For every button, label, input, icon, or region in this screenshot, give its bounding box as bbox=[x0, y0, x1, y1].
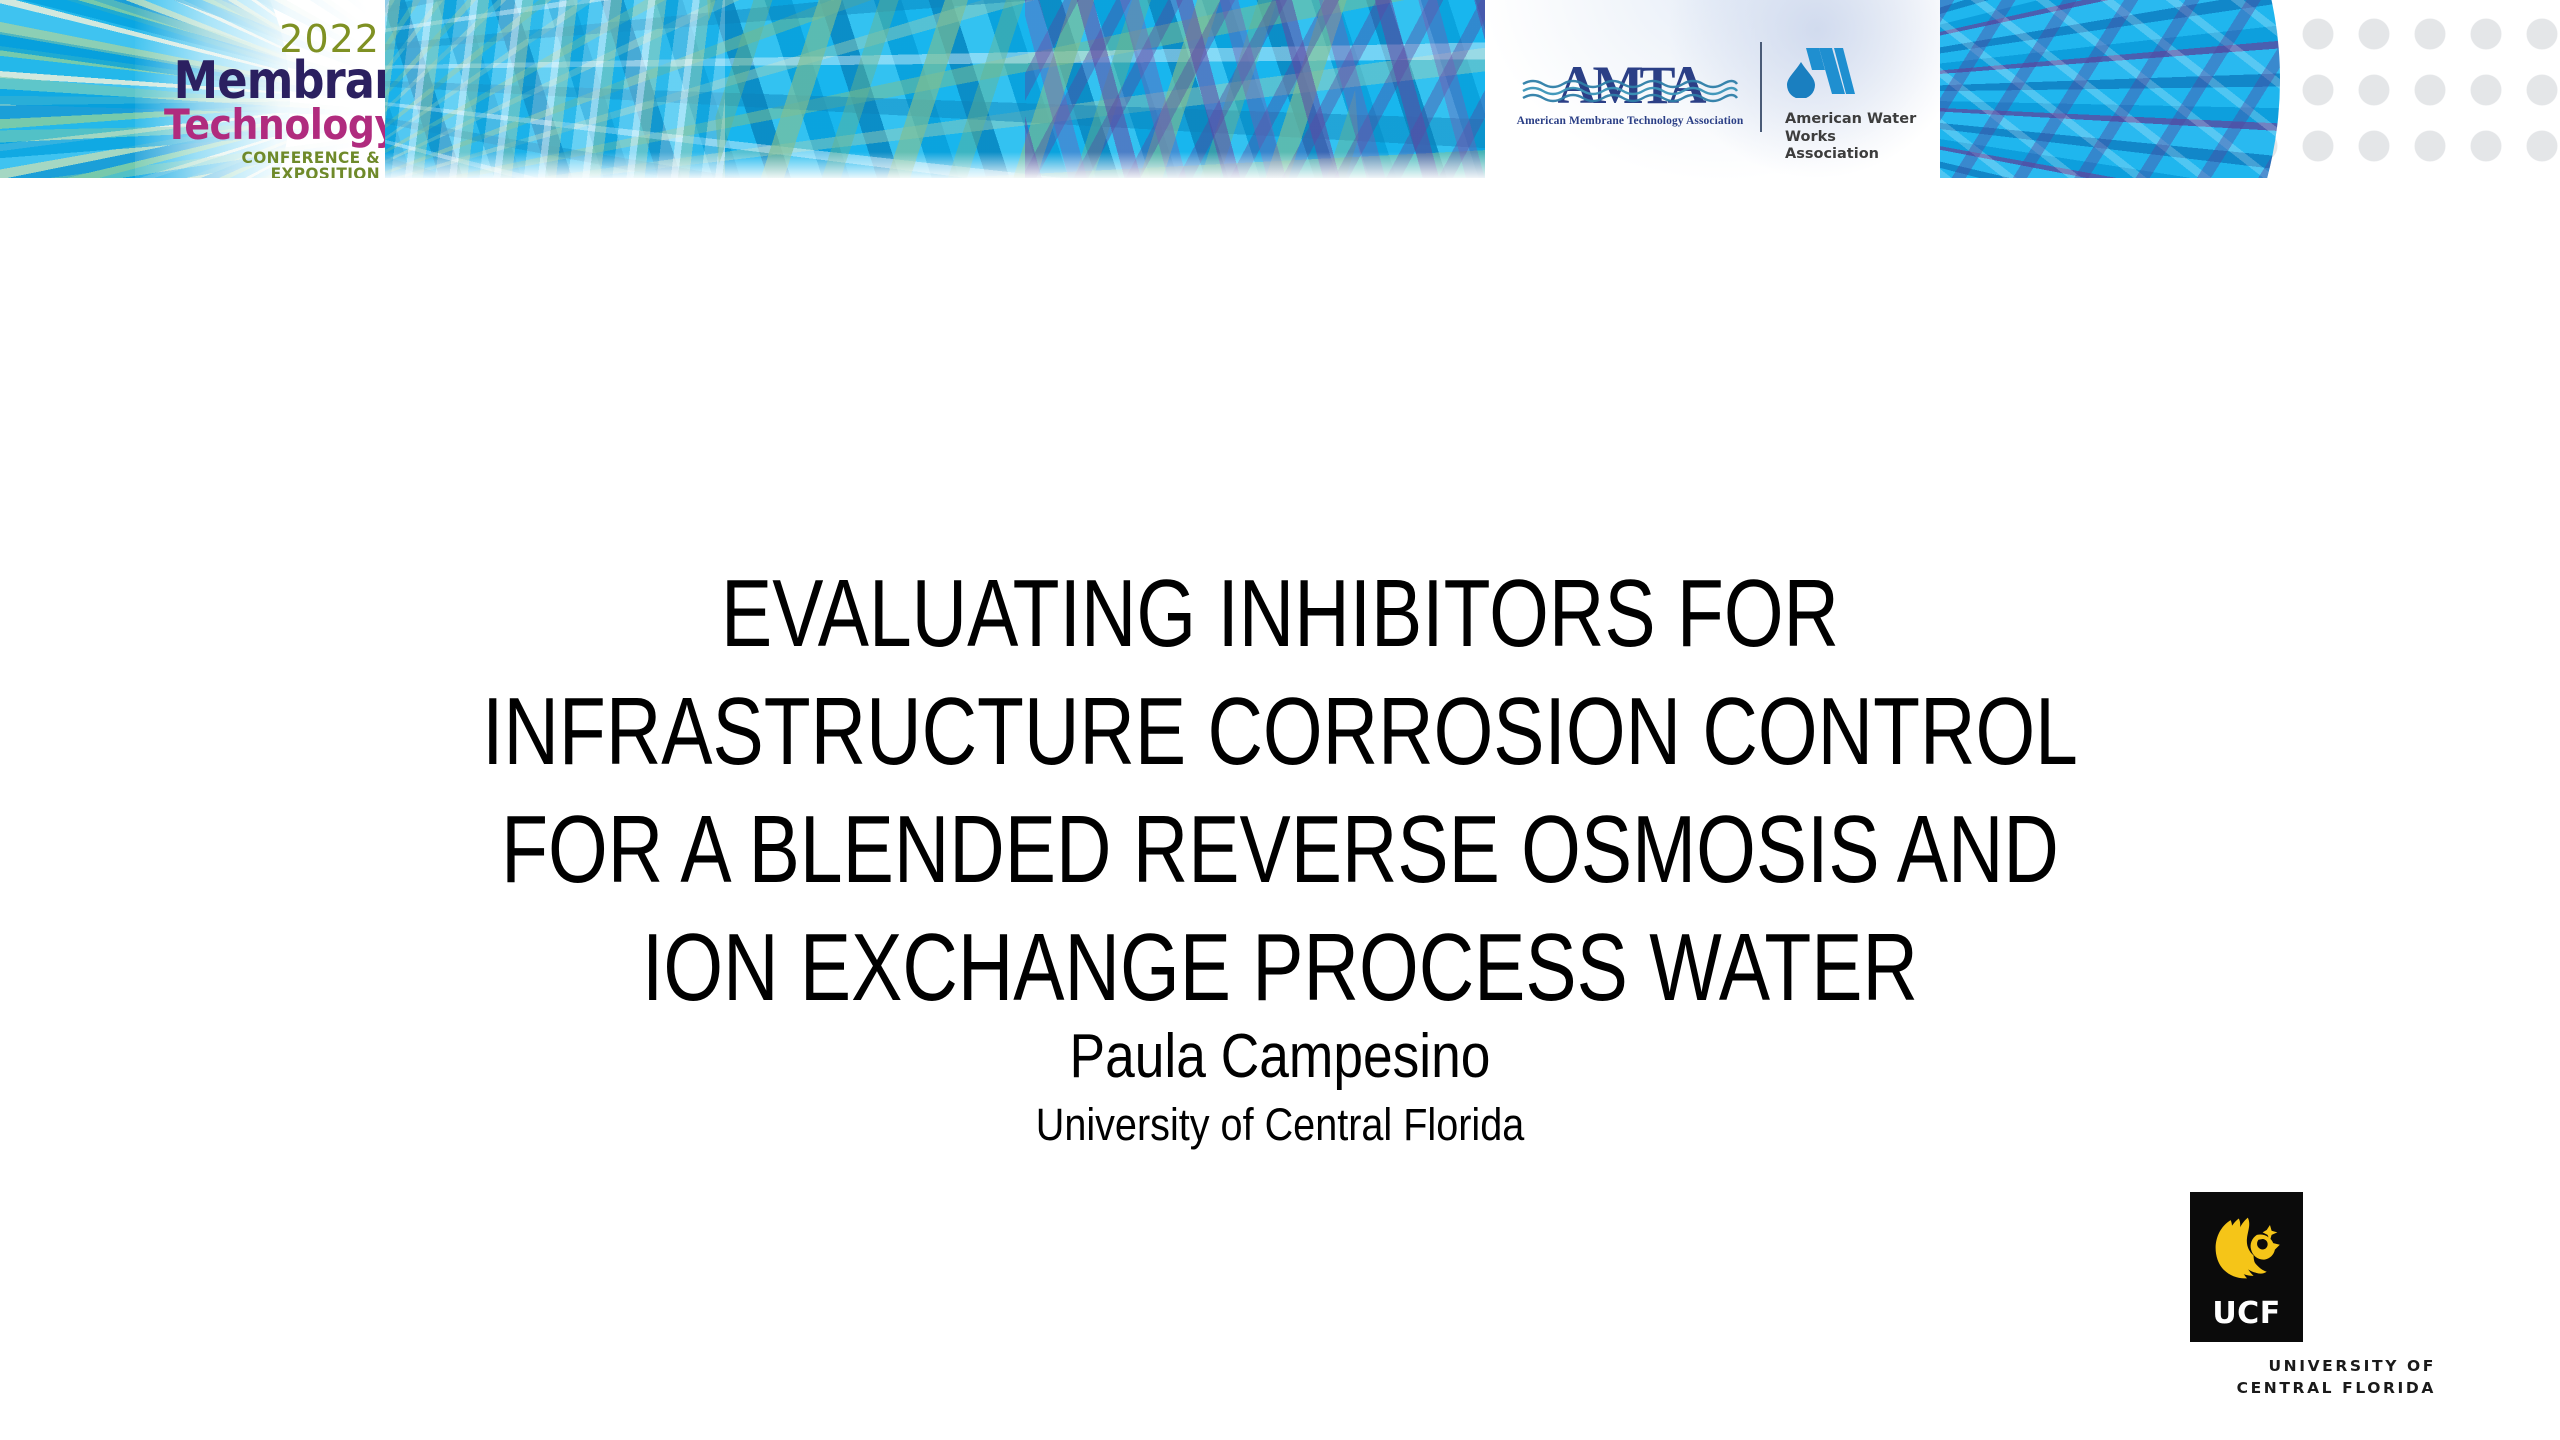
banner-association-logos: AMTA American Membrane Technology Associ… bbox=[1485, 0, 1940, 178]
banner-wave-graphic bbox=[385, 0, 1485, 178]
ucf-tagline-line1: UNIVERSITY OF bbox=[2148, 1355, 2436, 1377]
presentation-slide: 2022 Membrane Technology CONFERENCE & EX… bbox=[0, 0, 2560, 1440]
awwa-logo: American Water Works Association bbox=[1785, 46, 1935, 164]
pegasus-icon bbox=[2206, 1206, 2288, 1290]
banner-left-panel: 2022 Membrane Technology CONFERENCE & EX… bbox=[0, 0, 385, 178]
slide-title: EVALUATING INHIBITORS FOR INFRASTRUCTURE… bbox=[0, 555, 2560, 1027]
awwa-name-text: American Water Works Association bbox=[1785, 111, 1935, 164]
ucf-logo-box: UCF bbox=[2190, 1192, 2303, 1342]
ucf-tagline-line2: CENTRAL FLORIDA bbox=[2148, 1377, 2436, 1399]
presenter-name: Paula Campesino bbox=[179, 1022, 2381, 1092]
header-banner: 2022 Membrane Technology CONFERENCE & EX… bbox=[0, 0, 2560, 180]
awwa-name-line2: Association bbox=[1785, 146, 1935, 164]
blue-arc-graphic bbox=[1940, 0, 2280, 178]
ucf-logo: UCF UNIVERSITY OF CENTRAL FLORIDA bbox=[2148, 1192, 2448, 1400]
title-line-3: FOR A BLENDED REVERSE OSMOSIS AND bbox=[256, 791, 2304, 909]
amta-wave-icon bbox=[1521, 78, 1739, 104]
title-line-2: INFRASTRUCTURE CORROSION CONTROL bbox=[256, 673, 2304, 791]
logo-divider bbox=[1760, 42, 1762, 132]
title-line-4: ION EXCHANGE PROCESS WATER bbox=[256, 909, 2304, 1027]
awwa-name-line1: American Water Works bbox=[1785, 111, 1935, 146]
awwa-droplet-icon bbox=[1785, 46, 1857, 98]
logo-technology-text: Technology bbox=[164, 104, 380, 146]
banner-right-panel bbox=[1940, 0, 2560, 178]
ucf-acronym-text: UCF bbox=[2190, 1296, 2303, 1331]
amta-logo: AMTA American Membrane Technology Associ… bbox=[1515, 56, 1745, 127]
amta-full-name-text: American Membrane Technology Association bbox=[1515, 115, 1745, 127]
logo-conference-expo-text: CONFERENCE & EXPOSITION bbox=[150, 150, 380, 178]
ucf-tagline: UNIVERSITY OF CENTRAL FLORIDA bbox=[2148, 1355, 2448, 1400]
presenter-affiliation: University of Central Florida bbox=[154, 1098, 2407, 1152]
amta-wordmark: AMTA bbox=[1515, 56, 1745, 114]
membrane-technology-logo: 2022 Membrane Technology CONFERENCE & EX… bbox=[140, 20, 380, 178]
wave-bottom-fade bbox=[385, 152, 1485, 178]
title-line-1: EVALUATING INHIBITORS FOR bbox=[256, 555, 2304, 673]
